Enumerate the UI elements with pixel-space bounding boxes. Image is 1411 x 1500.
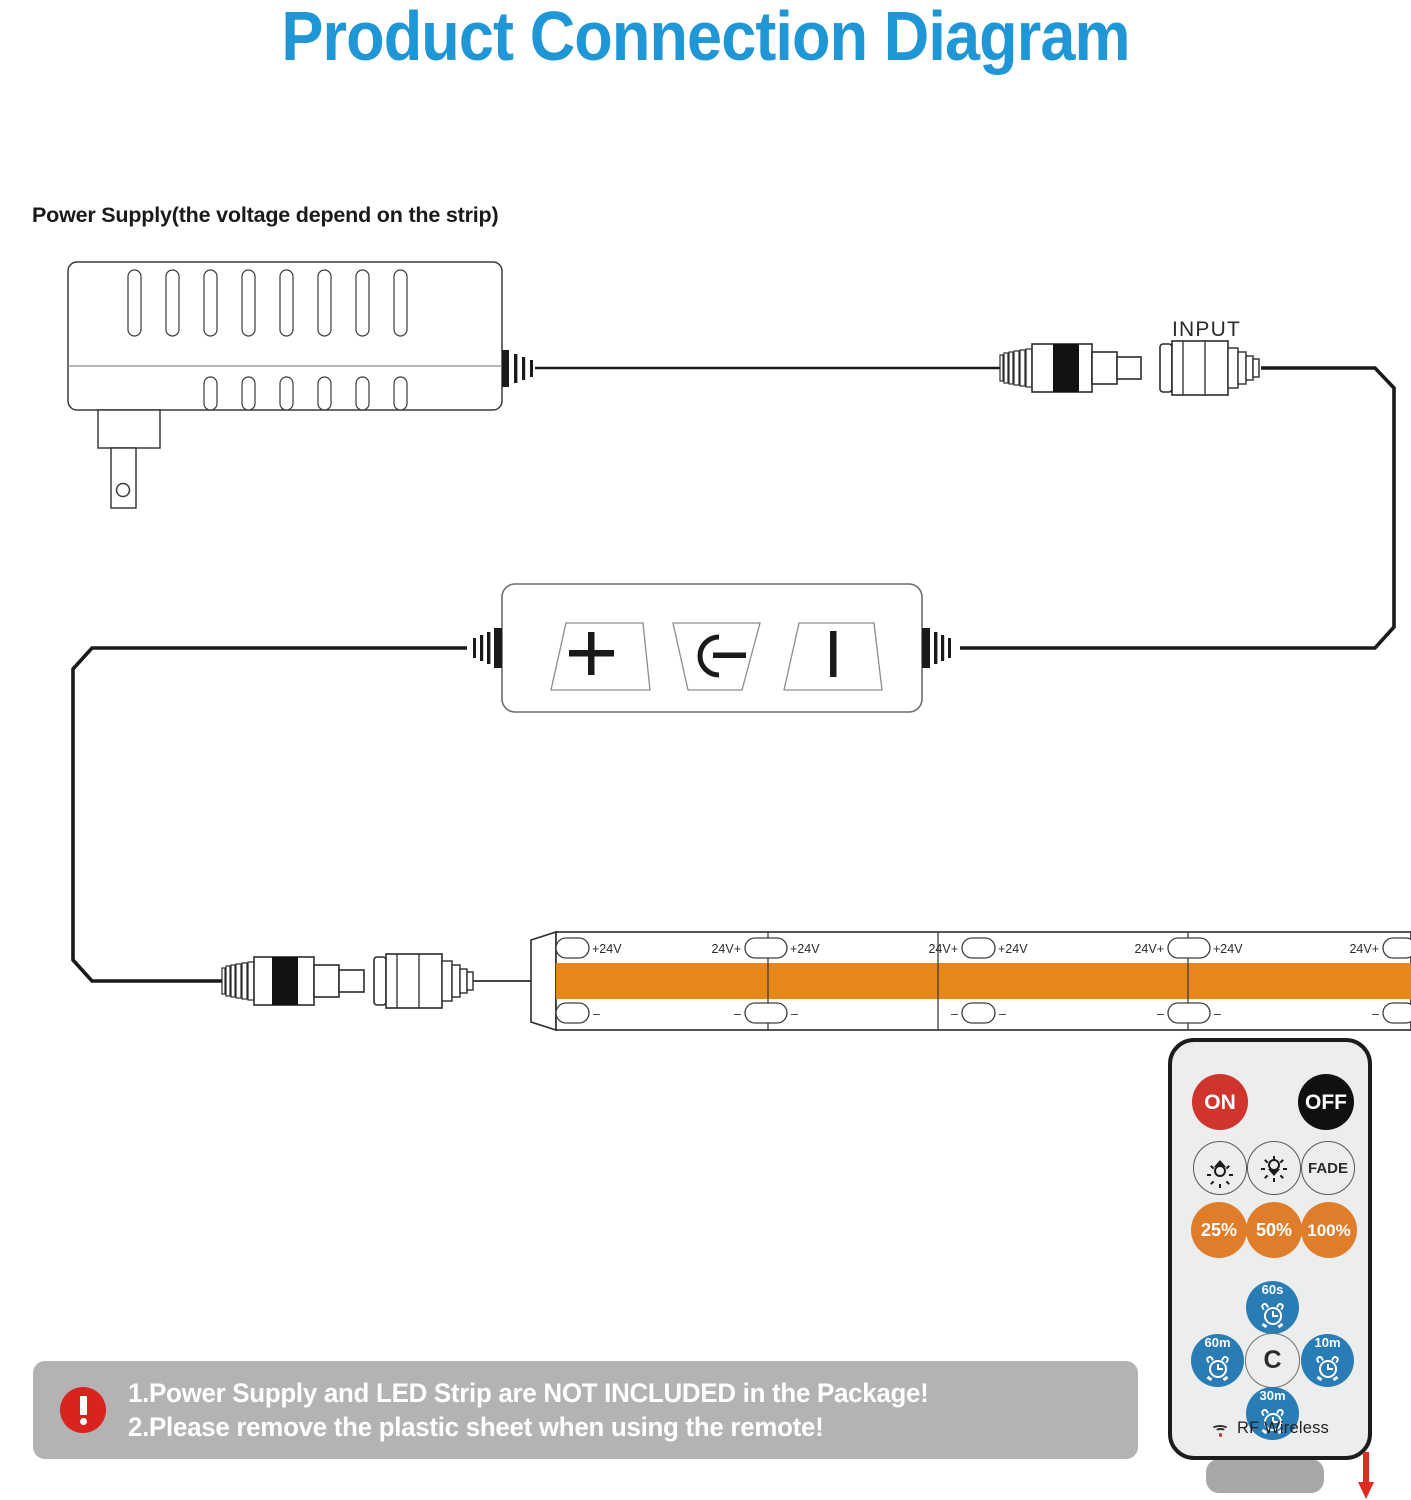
pad-label-top-7: 24V+	[1349, 942, 1379, 956]
exclamation-circle-icon	[60, 1387, 106, 1433]
off-button[interactable]: OFF	[1298, 1074, 1354, 1130]
wire-input-to-controller	[960, 368, 1394, 648]
alarm-clock-icon	[1260, 1302, 1285, 1326]
wifi-icon	[1211, 1421, 1230, 1437]
timer-60m-button[interactable]: 60m	[1191, 1334, 1244, 1387]
warning-banner: 1.Power Supply and LED Strip are NOT INC…	[33, 1361, 1138, 1459]
timer-60s-button[interactable]: 60s	[1246, 1281, 1299, 1334]
plug-strain-relief-top	[1000, 349, 1032, 387]
brightness-50-label: 50%	[1256, 1221, 1292, 1239]
rf-remote-control: ON OFF	[1168, 1038, 1372, 1460]
adapter-strain-relief	[502, 350, 533, 387]
timer-60m-label: 60m	[1191, 1336, 1244, 1349]
sun-up-icon	[1207, 1155, 1233, 1181]
strip-light-band	[556, 963, 1411, 999]
timer-30m-label: 30m	[1246, 1389, 1299, 1402]
brightness-100-button[interactable]: 100%	[1301, 1202, 1357, 1258]
strip-end-cap	[531, 932, 556, 1030]
controller-left-strain-relief	[473, 628, 502, 668]
pad-label-top-4: +24V	[998, 942, 1028, 956]
pad-label-top-2: +24V	[790, 942, 820, 956]
timer-60s-label: 60s	[1246, 1283, 1299, 1296]
pad-label-top-1: 24V+	[711, 942, 741, 956]
pad-label-bottom-7: –	[1372, 1007, 1379, 1021]
pad-label-top-0: +24V	[592, 942, 622, 956]
cancel-timer-label: C	[1263, 1348, 1281, 1373]
pad-label-bottom-1: –	[734, 1007, 741, 1021]
rf-wireless-footer: RF Wireless	[1172, 1419, 1368, 1438]
diagram-page: Product Connection Diagram Power Supply(…	[0, 0, 1411, 1500]
pad-label-bottom-6: –	[1214, 1007, 1221, 1021]
off-button-label: OFF	[1305, 1092, 1347, 1113]
on-button[interactable]: ON	[1192, 1074, 1248, 1130]
plug-strain-relief-bottom	[222, 962, 254, 1000]
power-adapter	[68, 262, 533, 508]
brightness-down-button[interactable]	[1247, 1141, 1301, 1195]
brightness-50-button[interactable]: 50%	[1246, 1202, 1302, 1258]
pad-label-bottom-3: –	[951, 1007, 958, 1021]
warning-line-2: 2.Please remove the plastic sheet when u…	[128, 1410, 929, 1444]
pad-label-bottom-5: –	[1157, 1007, 1164, 1021]
brightness-25-label: 25%	[1201, 1221, 1237, 1239]
fade-button[interactable]: FADE	[1301, 1141, 1355, 1195]
fade-button-label: FADE	[1308, 1161, 1348, 1176]
brightness-25-button[interactable]: 25%	[1191, 1202, 1247, 1258]
pad-label-bottom-4: –	[999, 1007, 1006, 1021]
alarm-clock-icon	[1205, 1355, 1230, 1379]
dc-connector-input	[1000, 341, 1259, 395]
cancel-timer-button[interactable]: C	[1245, 1333, 1300, 1388]
controller-button-brightness-up[interactable]	[551, 623, 650, 690]
pad-label-top-3: 24V+	[928, 942, 958, 956]
brightness-100-label: 100%	[1307, 1222, 1350, 1239]
timer-10m-label: 10m	[1301, 1336, 1354, 1349]
dc-connector-strip	[222, 954, 531, 1008]
pad-label-top-5: 24V+	[1134, 942, 1164, 956]
pull-down-arrow-icon	[1358, 1452, 1374, 1500]
on-button-label: ON	[1204, 1092, 1236, 1113]
wire-controller-to-strip	[73, 648, 467, 981]
controller-button-brightness-down[interactable]	[784, 623, 882, 690]
controller-right-strain-relief	[922, 628, 951, 668]
sun-down-icon	[1261, 1155, 1287, 1181]
warning-line-1: 1.Power Supply and LED Strip are NOT INC…	[128, 1376, 929, 1410]
pad-label-bottom-0: –	[593, 1007, 600, 1021]
rf-wireless-label: RF Wireless	[1237, 1419, 1329, 1438]
brightness-up-button[interactable]	[1193, 1141, 1247, 1195]
adapter-ac-plug	[98, 410, 160, 508]
timer-10m-button[interactable]: 10m	[1301, 1334, 1354, 1387]
alarm-clock-icon	[1315, 1355, 1340, 1379]
warning-text: 1.Power Supply and LED Strip are NOT INC…	[128, 1376, 929, 1444]
inline-controller	[473, 584, 951, 712]
led-strip: +24V 24V+ +24V 24V+ +24V 24V+ +24V 24V+ …	[531, 932, 1411, 1030]
plastic-sheet-tab[interactable]	[1206, 1459, 1324, 1493]
pad-label-top-6: +24V	[1213, 942, 1243, 956]
pad-label-bottom-2: –	[791, 1007, 798, 1021]
